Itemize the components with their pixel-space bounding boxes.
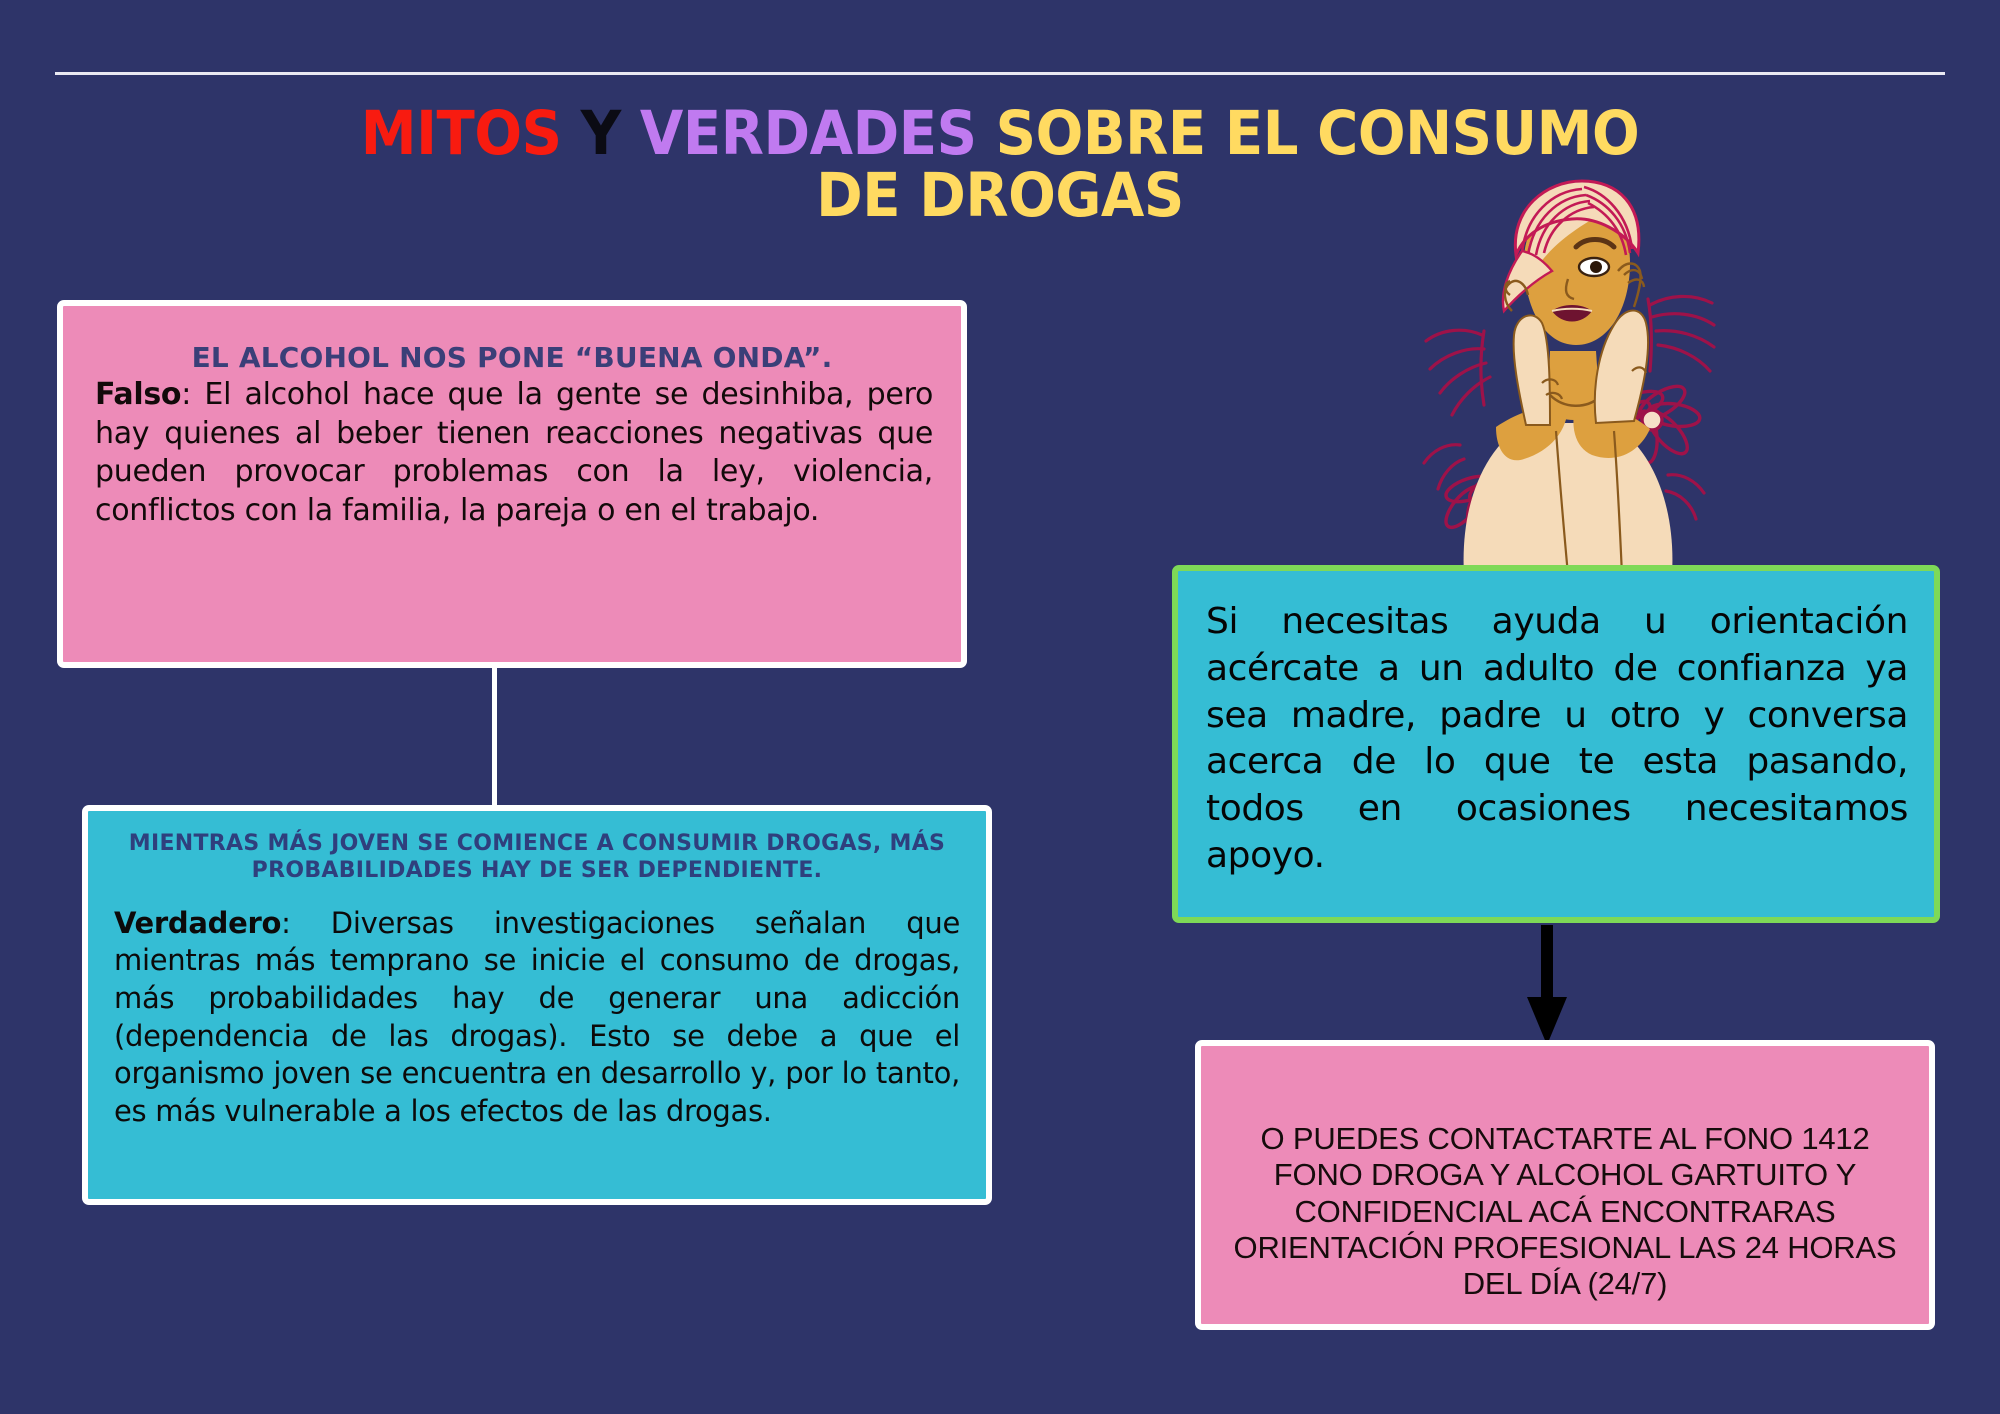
ayuda-body: Si necesitas ayuda u orientación acércat… [1206,599,1908,880]
mito-alcohol-body: Falso: El alcohol hace que la gente se d… [95,376,933,531]
mito-alcohol-body-text: : El alcohol hace que la gente se desinh… [95,377,933,528]
mito-edad-heading: MIENTRAS MÁS JOVEN SE COMIENCE A CONSUMI… [122,831,952,885]
fono-body: O PUEDES CONTACTARTE AL FONO 1412 FONO D… [1215,1121,1915,1302]
arrow-shaft [1541,925,1553,1007]
mito-edad-verdict: Verdadero [114,906,281,940]
card-ayuda: Si necesitas ayuda u orientación acércat… [1172,565,1940,923]
card-fono: O PUEDES CONTACTARTE AL FONO 1412 FONO D… [1195,1040,1935,1330]
title-part-mitos: MITOS [361,98,562,169]
card-mito-alcohol: EL ALCOHOL NOS PONE “BUENA ONDA”. Falso:… [57,300,967,668]
mito-alcohol-heading: EL ALCOHOL NOS PONE “BUENA ONDA”. [85,341,939,374]
down-arrow-icon [1527,925,1567,1045]
mito-alcohol-verdict: Falso [95,377,181,412]
mito-edad-body: Verdadero: Diversas investigaciones seña… [114,905,960,1131]
title-part-verdades: VERDADES [640,98,977,169]
infographic-canvas: MITOS Y VERDADES SOBRE EL CONSUMO DE DRO… [0,0,2000,1414]
vertical-connector-line [492,668,497,810]
card-mito-edad: MIENTRAS MÁS JOVEN SE COMIENCE A CONSUMI… [82,805,992,1205]
woman-with-flowers-illustration [1400,175,1730,575]
title-rule-line [55,72,1945,75]
title-part-y: Y [562,98,640,169]
arrow-head [1527,997,1567,1045]
